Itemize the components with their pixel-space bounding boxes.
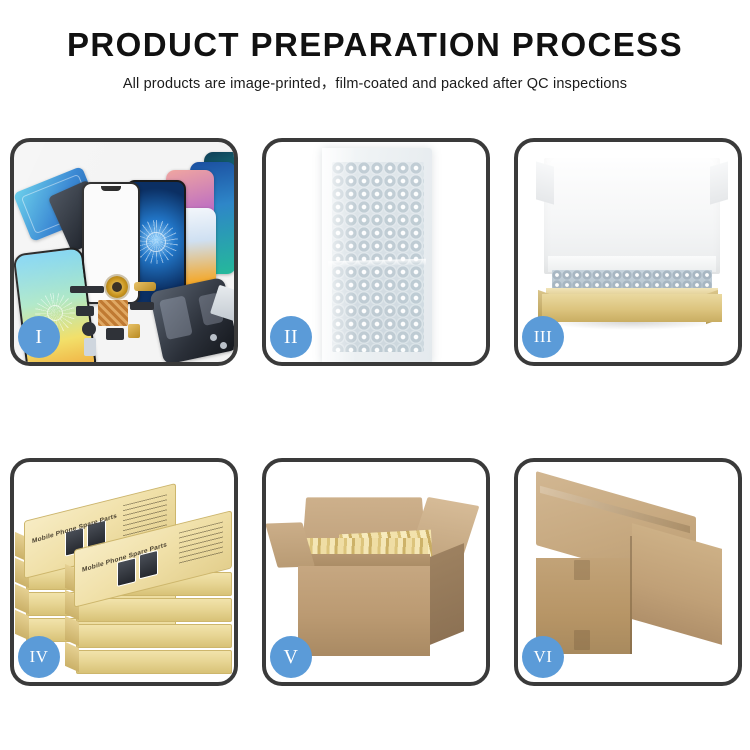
drop-shadow xyxy=(546,322,718,330)
carton-corner-edge xyxy=(630,536,632,654)
phone-notch-icon xyxy=(101,186,121,191)
part-sim-tray-icon xyxy=(128,324,140,338)
process-step-panel-1: I xyxy=(10,138,238,366)
part-ribbon-icon xyxy=(130,302,154,310)
product-preparation-infographic: PRODUCT PREPARATION PROCESS All products… xyxy=(0,0,750,750)
mailer-tray-front-graphic xyxy=(542,294,722,322)
part-flex-cable-icon xyxy=(134,282,156,291)
page-title: PRODUCT PREPARATION PROCESS xyxy=(0,28,750,63)
retail-box-graphic xyxy=(76,624,232,648)
step-number-badge: II xyxy=(270,316,312,358)
part-screw-icon xyxy=(210,334,217,341)
step-number-badge: V xyxy=(270,636,312,678)
process-step-panel-5: V xyxy=(262,458,490,686)
page-subtitle: All products are image-printed，film-coat… xyxy=(0,72,750,93)
pouch-gloss xyxy=(322,148,356,362)
spec-list-print xyxy=(179,522,223,567)
carton-side-face xyxy=(430,543,464,645)
part-button-icon xyxy=(106,328,124,340)
process-step-panel-3: III xyxy=(514,138,742,366)
step-number-badge: IV xyxy=(18,636,60,678)
carton-front-face xyxy=(298,566,430,656)
part-screw-icon xyxy=(220,342,227,349)
screen-crack-icon xyxy=(134,220,178,264)
part-camera-icon xyxy=(82,322,96,336)
retail-box-graphic xyxy=(76,650,232,674)
part-heatsink-icon xyxy=(98,300,128,326)
part-connector-icon xyxy=(76,306,94,316)
vibration-motor-icon xyxy=(106,276,128,298)
step-number-badge: VI xyxy=(522,636,564,678)
process-step-grid: I II xyxy=(10,138,742,686)
part-screw-icon xyxy=(84,338,96,356)
part-speaker-icon xyxy=(70,286,104,293)
header: PRODUCT PREPARATION PROCESS All products… xyxy=(0,28,750,93)
step-number-badge: III xyxy=(522,316,564,358)
bubble-wrap-pouch-graphic xyxy=(322,148,432,362)
carton-flap-tab xyxy=(574,630,590,650)
process-step-panel-6: VI xyxy=(514,458,742,686)
process-step-panel-2: II xyxy=(262,138,490,366)
carton-right-face xyxy=(632,523,722,645)
process-step-panel-4: Mobile Phone Spare Parts Mobile Phone Sp… xyxy=(10,458,238,686)
carton-flap-tab xyxy=(574,560,590,580)
retail-box-graphic xyxy=(76,598,232,622)
step-number-badge: I xyxy=(18,316,60,358)
